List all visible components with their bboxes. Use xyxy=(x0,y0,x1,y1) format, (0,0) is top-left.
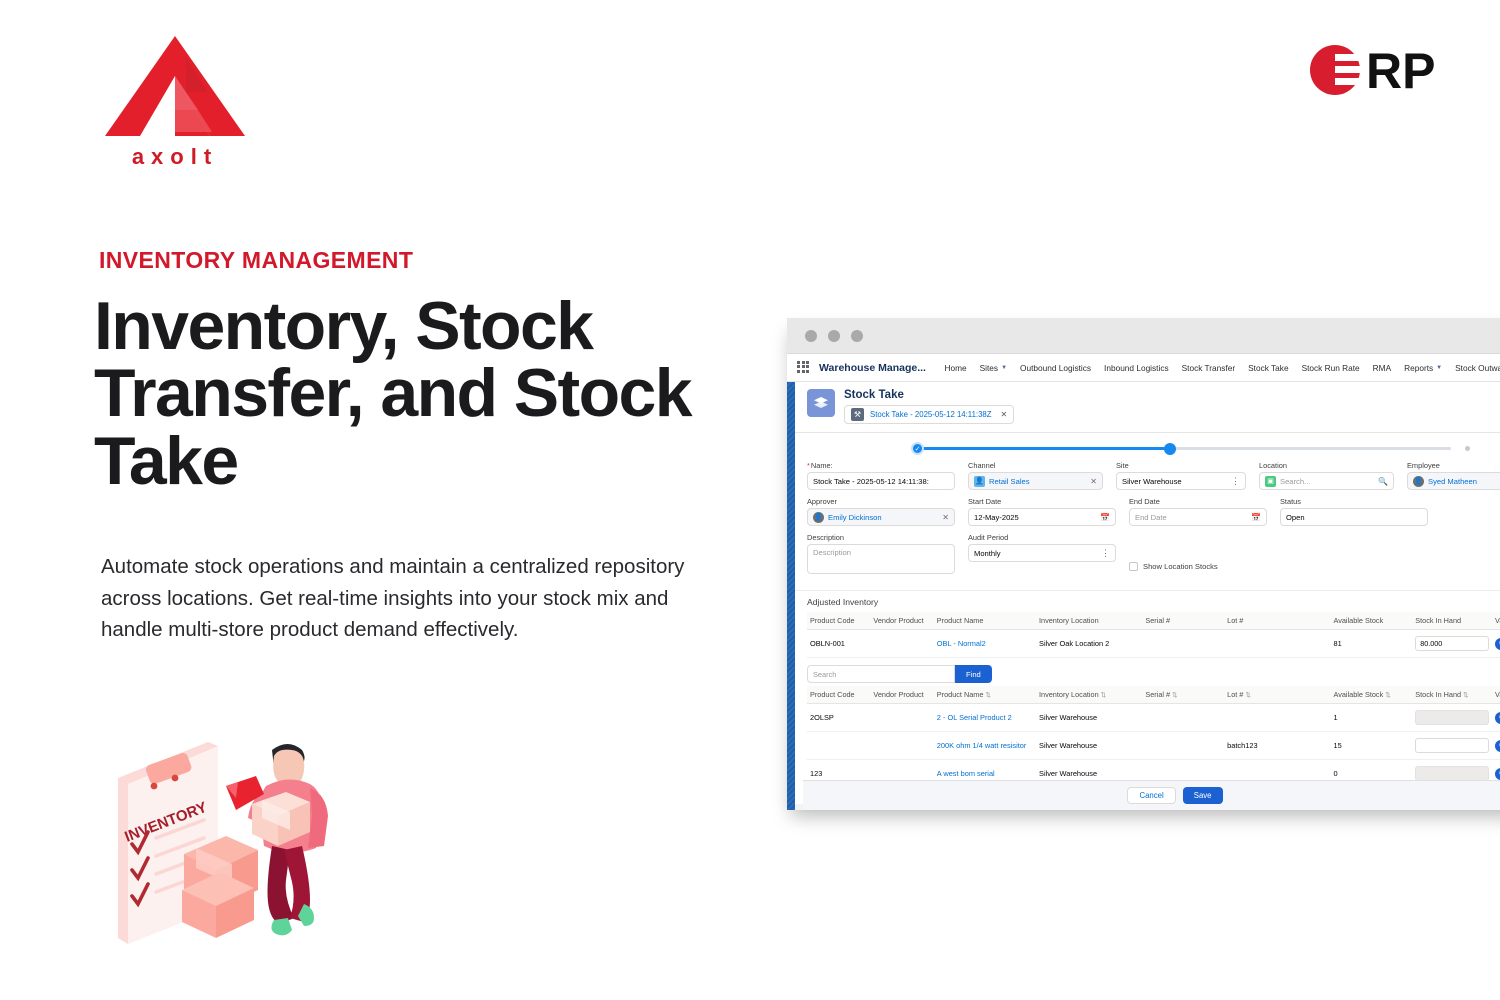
axolt-wordmark: axolt xyxy=(132,144,218,168)
cell-lot xyxy=(1224,630,1330,658)
cell-product-name[interactable]: OBL - Normal2 xyxy=(934,630,1036,658)
cell-vendor-product xyxy=(870,704,933,732)
save-button[interactable]: Save xyxy=(1183,787,1223,804)
nav-item-stock-outward-line-items[interactable]: Stock Outward Line Items ▼ xyxy=(1449,363,1500,373)
nav-item-stock-run-rate[interactable]: Stock Run Rate xyxy=(1295,363,1366,373)
stock-in-hand-input[interactable] xyxy=(1415,710,1489,725)
field-show-location-stocks: Show Location Stocks xyxy=(1129,533,1309,574)
cell-available-stock: 15 xyxy=(1330,732,1412,760)
stock-take-icon xyxy=(807,389,835,417)
nav-label: Inbound Logistics xyxy=(1104,363,1169,373)
erp-logo: RP xyxy=(1308,44,1468,96)
sort-icon: ⇅ xyxy=(1463,692,1468,699)
cell-stock-in-hand[interactable]: 80.000 xyxy=(1412,630,1492,658)
cell-product-name[interactable]: 2 - OL Serial Product 2 xyxy=(934,704,1036,732)
field-label: Employee xyxy=(1407,461,1500,470)
nav-label: Outbound Logistics xyxy=(1020,363,1091,373)
field-status: Status Open xyxy=(1280,497,1428,526)
nav-label: Stock Outward Line Items xyxy=(1455,363,1500,373)
column-inventory-location: Inventory Location xyxy=(1036,612,1142,630)
status-badge: 0 xyxy=(1495,712,1500,724)
status-value: Open xyxy=(1286,513,1305,522)
nav-label: Reports xyxy=(1404,363,1433,373)
table-row[interactable]: 200K ohm 1/4 watt resisitor Silver Wareh… xyxy=(807,732,1500,760)
column-product-name[interactable]: Product Name⇅ xyxy=(934,686,1036,704)
sort-icon: ⇅ xyxy=(985,692,990,699)
inventory-search-row: Search Find xyxy=(807,665,1500,683)
field-site: Site Silver Warehouse ⋮ xyxy=(1116,461,1246,490)
section-title: Adjusted Inventory xyxy=(807,597,1500,607)
table-header-row: Product Code Vendor Product Product Name… xyxy=(807,612,1500,630)
location-input[interactable]: ▣ Search... 🔍 xyxy=(1259,472,1394,490)
description-textarea[interactable]: Description xyxy=(807,544,955,574)
cancel-button[interactable]: Cancel xyxy=(1127,787,1175,804)
column-product-code: Product Code xyxy=(807,612,870,630)
column-lot[interactable]: Lot #⇅ xyxy=(1224,686,1330,704)
field-end-date: End Date End Date 📅 xyxy=(1129,497,1267,526)
browser-window: Warehouse Manage... Home Sites ▼ Outboun… xyxy=(787,318,1500,810)
column-available-stock[interactable]: Available Stock⇅ xyxy=(1330,686,1412,704)
cell-product-name[interactable]: 200K ohm 1/4 watt resisitor xyxy=(934,732,1036,760)
adjusted-inventory-section: Adjusted Inventory Product Code Vendor P… xyxy=(795,590,1500,804)
search-input[interactable]: Search xyxy=(807,665,955,683)
record-header: Stock Take ⚒ Stock Take - 2025-05-12 14:… xyxy=(795,382,1500,433)
cell-vendor-product xyxy=(870,732,933,760)
sort-icon: ⇅ xyxy=(1172,692,1177,699)
status-input[interactable]: Open xyxy=(1280,508,1428,526)
app-launcher-icon[interactable] xyxy=(797,361,811,375)
table-row[interactable]: OBLN-001 OBL - Normal2 Silver Oak Locati… xyxy=(807,630,1500,658)
stock-take-form: *Name: Stock Take - 2025-05-12 14:11:38:… xyxy=(795,457,1500,590)
find-button[interactable]: Find xyxy=(955,665,992,683)
nav-item-home[interactable]: Home xyxy=(938,363,973,373)
start-date-value: 12-May-2025 xyxy=(974,513,1019,522)
field-name: *Name: Stock Take - 2025-05-12 14:11:38: xyxy=(807,461,955,490)
checkbox-icon[interactable] xyxy=(1129,562,1138,571)
user-icon: 👤 xyxy=(813,512,824,523)
record-tab-chip[interactable]: ⚒ Stock Take - 2025-05-12 14:11:38Z ✕ xyxy=(844,405,1014,424)
nav-item-outbound-logistics[interactable]: Outbound Logistics xyxy=(1014,363,1098,373)
sort-icon: ⇅ xyxy=(1101,692,1106,699)
employee-value: Syed Matheen xyxy=(1428,477,1477,486)
inventory-illustration: INVENTORY xyxy=(96,738,358,950)
location-placeholder: Search... xyxy=(1280,477,1310,486)
field-employee: Employee 👤 Syed Matheen ✕ xyxy=(1407,461,1500,490)
column-lot: Lot # xyxy=(1224,612,1330,630)
cell-serial xyxy=(1142,704,1224,732)
stepper-icon[interactable]: ⋮ xyxy=(1231,479,1240,484)
cell-stock-in-hand[interactable] xyxy=(1412,704,1492,732)
nav-label: Stock Transfer xyxy=(1182,363,1236,373)
nav-label: Home xyxy=(944,363,966,373)
nav-item-stock-transfer[interactable]: Stock Transfer xyxy=(1175,363,1242,373)
progress-path: ✓ xyxy=(795,433,1500,457)
chevron-down-icon: ▼ xyxy=(1436,365,1442,371)
column-variance: Variance xyxy=(1492,612,1500,630)
approver-input[interactable]: 👤 Emily Dickinson ✕ xyxy=(807,508,955,526)
record-title: Stock Take xyxy=(844,389,1014,401)
chevron-down-icon: ▼ xyxy=(1001,365,1007,371)
cell-product-code xyxy=(807,732,870,760)
cell-available-stock: 1 xyxy=(1330,704,1412,732)
calendar-icon[interactable]: 📅 xyxy=(1100,513,1110,522)
field-description: Description Description xyxy=(807,533,955,574)
column-serial: Serial # xyxy=(1142,612,1224,630)
field-label: Status xyxy=(1280,497,1428,506)
sort-icon: ⇅ xyxy=(1385,692,1390,699)
end-date-input[interactable]: End Date 📅 xyxy=(1129,508,1267,526)
field-label: *Name: xyxy=(807,461,955,470)
cell-inventory-location: Silver Oak Location 2 xyxy=(1036,630,1142,658)
cell-variance: 0 xyxy=(1492,732,1500,760)
status-badge: 0 xyxy=(1495,638,1500,650)
user-icon: 👤 xyxy=(974,476,985,487)
sort-icon: ⇅ xyxy=(1245,692,1250,699)
field-label: Description xyxy=(807,533,955,542)
site-value: Silver Warehouse xyxy=(1122,477,1182,486)
field-label: Audit Period xyxy=(968,533,1116,542)
nav-item-inbound-logistics[interactable]: Inbound Logistics xyxy=(1098,363,1176,373)
cell-inventory-location: Silver Warehouse xyxy=(1036,732,1142,760)
nav-label: RMA xyxy=(1373,363,1391,373)
cell-product-code: 2OLSP xyxy=(807,704,870,732)
browser-titlebar xyxy=(787,318,1500,354)
channel-value: Retail Sales xyxy=(989,477,1030,486)
progress-step-upcoming[interactable] xyxy=(1465,446,1470,451)
nav-label: Sites xyxy=(980,363,998,373)
user-icon: 👤 xyxy=(1413,476,1424,487)
nav-item-reports[interactable]: Reports ▼ xyxy=(1398,363,1449,373)
adjusted-inventory-table: Product Code Vendor Product Product Name… xyxy=(807,612,1500,658)
field-label: Start Date xyxy=(968,497,1116,506)
end-date-placeholder: End Date xyxy=(1135,513,1167,522)
cell-serial xyxy=(1142,630,1224,658)
field-audit-period: Audit Period Monthly ⋮ xyxy=(968,533,1116,574)
cell-variance: 0 xyxy=(1492,630,1500,658)
status-badge: 0 xyxy=(1495,768,1500,780)
field-channel: Channel 👤 Retail Sales ✕ xyxy=(968,461,1103,490)
channel-input[interactable]: 👤 Retail Sales ✕ xyxy=(968,472,1103,490)
wrench-icon: ⚒ xyxy=(851,408,864,421)
field-approver: Approver 👤 Emily Dickinson ✕ xyxy=(807,497,955,526)
app-navigation-bar: Warehouse Manage... Home Sites ▼ Outboun… xyxy=(787,354,1500,382)
table-row[interactable]: 2OLSP 2 - OL Serial Product 2 Silver War… xyxy=(807,704,1500,732)
stock-in-hand-input[interactable]: 80.000 xyxy=(1415,636,1489,651)
column-stock-in-hand: Stock In Hand xyxy=(1412,612,1492,630)
cell-stock-in-hand[interactable] xyxy=(1412,732,1492,760)
start-date-input[interactable]: 12-May-2025 📅 xyxy=(968,508,1116,526)
name-value: Stock Take - 2025-05-12 14:11:38: xyxy=(813,477,929,486)
field-label: Channel xyxy=(968,461,1103,470)
nav-item-sites[interactable]: Sites ▼ xyxy=(973,363,1013,373)
clear-icon[interactable]: ✕ xyxy=(1090,477,1097,486)
progress-step-current[interactable] xyxy=(1164,443,1176,455)
clear-icon[interactable]: ✕ xyxy=(942,513,949,522)
column-vendor-product: Vendor Product xyxy=(870,686,933,704)
field-location: Location ▣ Search... 🔍 xyxy=(1259,461,1394,490)
app-content-area: Stock Take ⚒ Stock Take - 2025-05-12 14:… xyxy=(787,382,1500,810)
window-close-button[interactable] xyxy=(805,330,817,342)
column-stock-in-hand[interactable]: Stock In Hand⇅ xyxy=(1412,686,1492,704)
stock-in-hand-input[interactable] xyxy=(1415,766,1489,781)
column-serial[interactable]: Serial #⇅ xyxy=(1142,686,1224,704)
column-product-name: Product Name xyxy=(934,612,1036,630)
calendar-icon[interactable]: 📅 xyxy=(1251,513,1261,522)
name-input[interactable]: Stock Take - 2025-05-12 14:11:38: xyxy=(807,472,955,490)
nav-label: Stock Take xyxy=(1248,363,1288,373)
field-label: End Date xyxy=(1129,497,1267,506)
cell-available-stock: 81 xyxy=(1330,630,1412,658)
close-icon[interactable]: ✕ xyxy=(1001,410,1008,419)
search-icon[interactable]: 🔍 xyxy=(1378,477,1388,486)
nav-item-rma[interactable]: RMA xyxy=(1366,363,1397,373)
cell-lot: batch123 xyxy=(1224,732,1330,760)
app-name-label[interactable]: Warehouse Manage... xyxy=(819,362,926,374)
window-minimize-button[interactable] xyxy=(828,330,840,342)
axolt-logo: axolt xyxy=(100,28,250,168)
erp-wordmark: RP xyxy=(1366,44,1435,96)
column-available-stock: Available Stock xyxy=(1330,612,1412,630)
site-input[interactable]: Silver Warehouse ⋮ xyxy=(1116,472,1246,490)
page-title: Inventory, Stock Transfer, and Stock Tak… xyxy=(94,293,734,495)
audit-period-select[interactable]: Monthly ⋮ xyxy=(968,544,1116,562)
record-tab-label: Stock Take - 2025-05-12 14:11:38Z xyxy=(870,410,992,419)
audit-period-value: Monthly xyxy=(974,549,1001,558)
column-variance: Variance xyxy=(1492,686,1500,704)
nav-item-stock-take[interactable]: Stock Take xyxy=(1242,363,1295,373)
cell-vendor-product xyxy=(870,630,933,658)
stepper-icon[interactable]: ⋮ xyxy=(1101,551,1110,556)
eyebrow-label: INVENTORY MANAGEMENT xyxy=(99,247,413,274)
show-location-stocks-checkbox[interactable]: Show Location Stocks xyxy=(1129,562,1309,571)
stock-in-hand-input[interactable] xyxy=(1415,738,1489,753)
status-badge: 0 xyxy=(1495,740,1500,752)
hero-description: Automate stock operations and maintain a… xyxy=(101,551,726,646)
column-product-code: Product Code xyxy=(807,686,870,704)
approver-value: Emily Dickinson xyxy=(828,513,882,522)
employee-input[interactable]: 👤 Syed Matheen ✕ xyxy=(1407,472,1500,490)
column-inventory-location[interactable]: Inventory Location⇅ xyxy=(1036,686,1142,704)
description-placeholder: Description xyxy=(813,548,851,557)
field-start-date: Start Date 12-May-2025 📅 xyxy=(968,497,1116,526)
field-label: Site xyxy=(1116,461,1246,470)
table-header-row: Product Code Vendor Product Product Name… xyxy=(807,686,1500,704)
field-label: Approver xyxy=(807,497,955,506)
form-action-bar: Cancel Save xyxy=(803,780,1500,810)
checkbox-label: Show Location Stocks xyxy=(1143,562,1218,571)
cell-product-code: OBLN-001 xyxy=(807,630,870,658)
location-icon: ▣ xyxy=(1265,476,1276,487)
cell-serial xyxy=(1142,732,1224,760)
cell-inventory-location: Silver Warehouse xyxy=(1036,704,1142,732)
window-maximize-button[interactable] xyxy=(851,330,863,342)
field-label: Location xyxy=(1259,461,1394,470)
nav-label: Stock Run Rate xyxy=(1302,363,1360,373)
cell-variance: 0 xyxy=(1492,704,1500,732)
progress-step-completed[interactable]: ✓ xyxy=(911,442,924,455)
progress-fill xyxy=(917,447,1170,450)
cell-lot xyxy=(1224,704,1330,732)
column-vendor-product: Vendor Product xyxy=(870,612,933,630)
decorative-side-strip xyxy=(787,382,795,810)
